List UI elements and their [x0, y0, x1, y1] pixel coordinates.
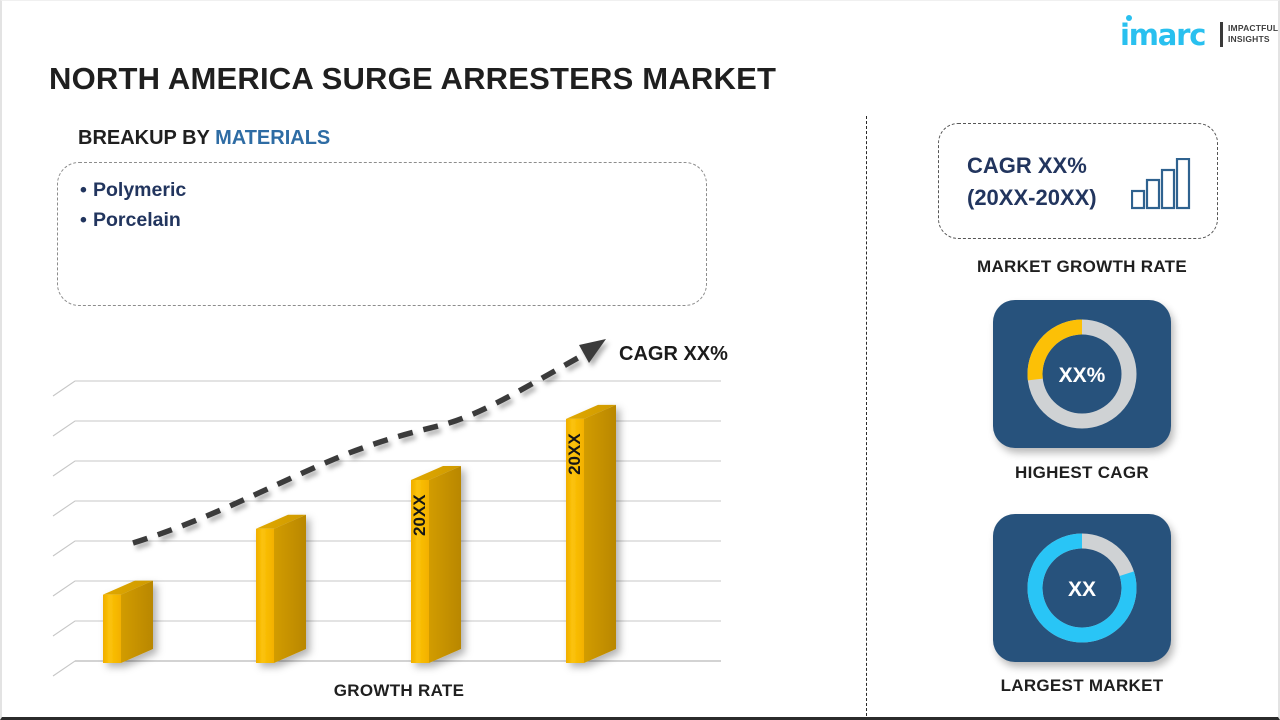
growth-card-text: CAGR XX% (20XX-20XX) — [967, 150, 1097, 214]
market-growth-rate-card: CAGR XX% (20XX-20XX) — [938, 123, 1218, 239]
list-item: •Polymeric — [80, 175, 186, 205]
imarc-logo: imarc IMPACTFUL INSIGHTS — [1120, 15, 1270, 51]
trendline-arrow-icon — [579, 339, 606, 363]
growth-rate-bar-chart: 20XX 20XX CAGR XX% GROWTH RATE — [49, 331, 749, 711]
subtitle-highlight: MATERIALS — [215, 127, 330, 149]
highest-cagr-donut: XX% — [1020, 312, 1144, 436]
bullet-icon: • — [80, 175, 93, 205]
largest-market-tile: XX — [993, 514, 1171, 662]
logo-wordmark: imarc — [1120, 21, 1205, 50]
bar-chart-svg: 20XX 20XX — [49, 331, 749, 681]
highest-cagr-caption: HIGHEST CAGR — [902, 463, 1262, 483]
section-subtitle: BREAKUP BY MATERIALS — [78, 127, 330, 150]
bar-4-label: 20XX — [565, 433, 584, 475]
growth-card-line2: (20XX-20XX) — [967, 182, 1097, 214]
logo-tagline-line1: IMPACTFUL — [1228, 23, 1278, 34]
segment-list-box: •Polymeric •Porcelain — [57, 162, 707, 306]
page-title: NORTH AMERICA SURGE ARRESTERS MARKET — [49, 61, 776, 97]
market-growth-rate-caption: MARKET GROWTH RATE — [902, 257, 1262, 277]
logo-divider — [1220, 22, 1223, 47]
bullet-icon: • — [80, 205, 93, 235]
chart-cagr-annotation: CAGR XX% — [619, 343, 728, 366]
vertical-divider — [866, 116, 867, 716]
largest-market-caption: LARGEST MARKET — [902, 676, 1262, 696]
subtitle-prefix: BREAKUP BY — [78, 127, 215, 149]
largest-market-value: XX — [1068, 578, 1096, 601]
logo-tagline-line2: INSIGHTS — [1228, 34, 1278, 45]
bar-3-label: 20XX — [410, 494, 429, 536]
largest-market-donut: XX — [1020, 526, 1144, 650]
bar-2 — [256, 515, 306, 663]
bar-growth-icon — [1131, 158, 1193, 210]
infographic-page: imarc IMPACTFUL INSIGHTS NORTH AMERICA S… — [0, 0, 1280, 720]
segment-list: •Polymeric •Porcelain — [80, 175, 186, 235]
growth-card-line1: CAGR XX% — [967, 150, 1097, 182]
bar-1 — [103, 581, 153, 663]
list-item-label: Polymeric — [93, 179, 186, 201]
highest-cagr-value: XX% — [1059, 364, 1106, 387]
list-item-label: Porcelain — [93, 209, 181, 231]
trendline — [133, 339, 606, 543]
list-item: •Porcelain — [80, 205, 186, 235]
highest-cagr-tile: XX% — [993, 300, 1171, 448]
chart-xaxis-label: GROWTH RATE — [49, 681, 749, 701]
chart-gridlines — [53, 381, 721, 676]
logo-tagline: IMPACTFUL INSIGHTS — [1228, 23, 1278, 45]
right-metrics-panel: CAGR XX% (20XX-20XX) MARKET GROWTH RATE … — [902, 111, 1262, 711]
